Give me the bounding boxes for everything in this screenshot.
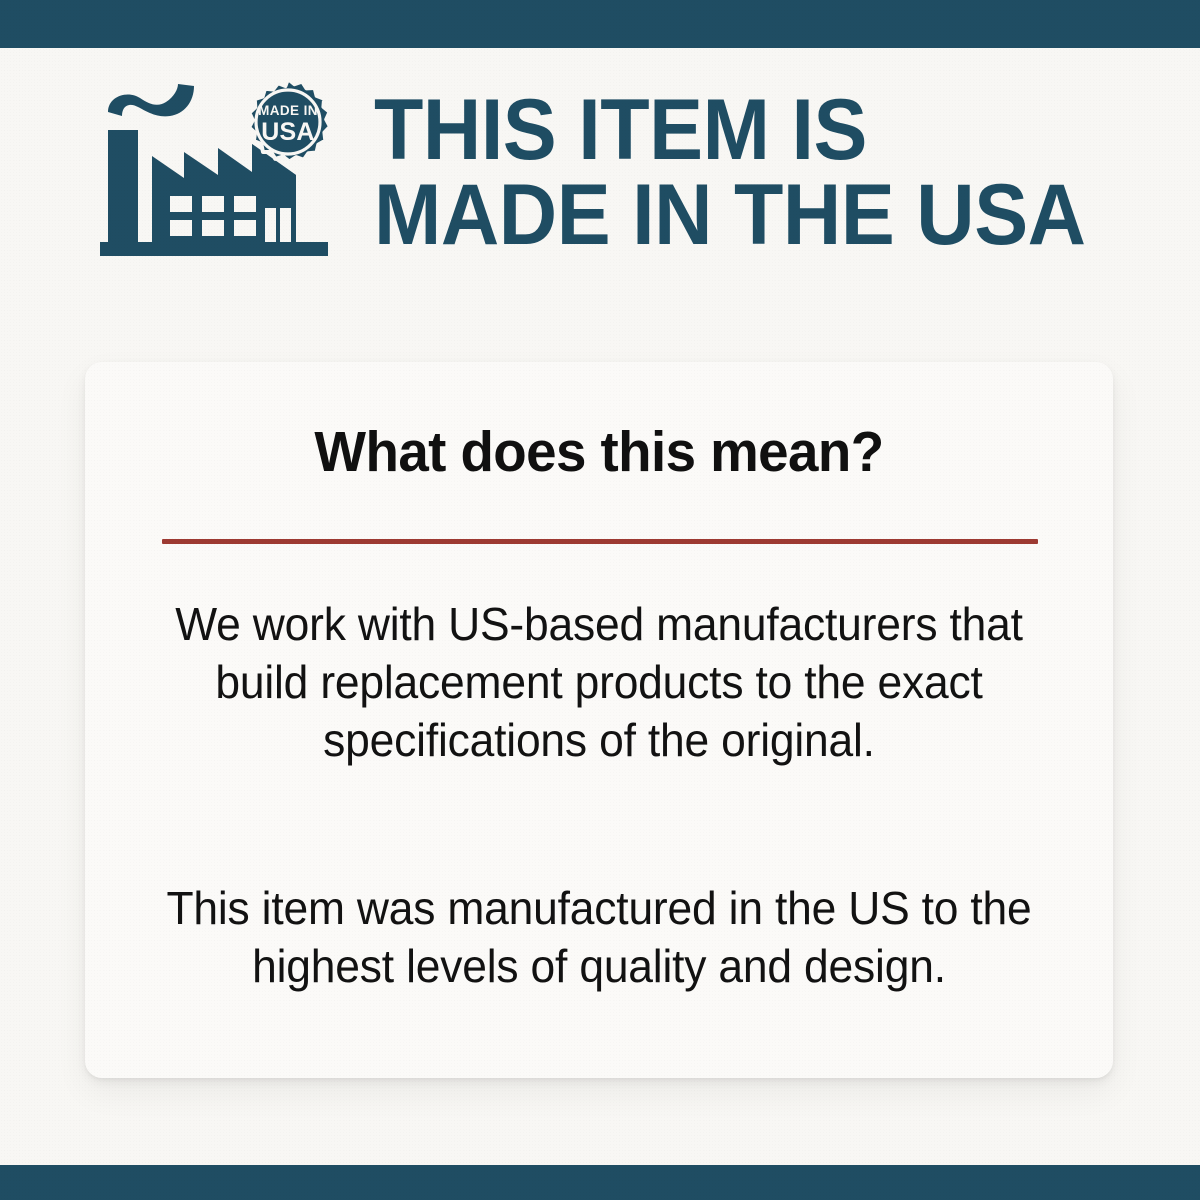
card-divider — [162, 539, 1038, 544]
headline-line-2: MADE IN THE USA — [374, 173, 1150, 258]
info-card: What does this mean? We work with US-bas… — [85, 362, 1113, 1078]
top-accent-band — [0, 0, 1200, 48]
headline-line-1: THIS ITEM IS — [374, 88, 1150, 173]
card-paragraph-2: This item was manufactured in the US to … — [151, 879, 1047, 995]
card-title: What does this mean? — [106, 419, 1093, 485]
page-headline: THIS ITEM IS MADE IN THE USA — [374, 88, 1150, 258]
card-paragraph-1: We work with US-based manufacturers that… — [151, 595, 1047, 769]
made-in-usa-logo: MADE IN USA — [100, 78, 350, 268]
badge-line2: USA — [261, 118, 314, 146]
header: MADE IN USA THIS ITEM IS MADE IN THE USA — [0, 48, 1200, 298]
bottom-accent-band — [0, 1165, 1200, 1200]
page-root: MADE IN USA THIS ITEM IS MADE IN THE USA… — [0, 0, 1200, 1200]
badge-line1: MADE IN — [258, 103, 318, 118]
made-in-usa-badge-icon: MADE IN USA — [235, 78, 341, 184]
